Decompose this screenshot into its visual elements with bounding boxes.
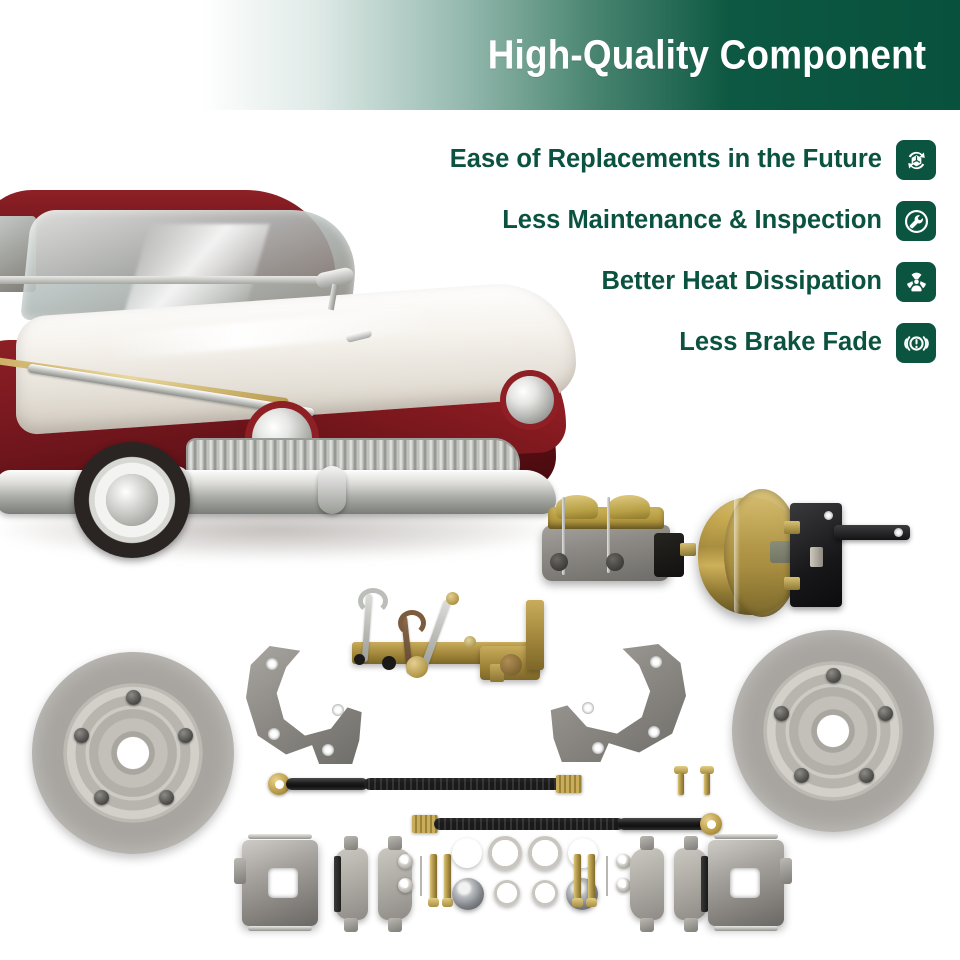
bracket-hole <box>592 742 604 754</box>
caliper-bleeder-bar-top <box>248 834 312 839</box>
feature-item-ease-of-replacements: Ease of Replacements in the Future <box>316 136 936 184</box>
hardware-left-group <box>398 850 460 916</box>
hardware-right-group <box>572 850 634 916</box>
brake-hose-upper <box>268 770 588 794</box>
brake-line-center-loop <box>398 610 426 636</box>
bracket-hole <box>650 656 662 668</box>
feature-item-less-brake-fade: Less Brake Fade <box>316 319 936 367</box>
rotor-lug-stud <box>94 790 109 805</box>
caliper-window <box>268 868 298 898</box>
bracket-bolt-bottom <box>784 577 800 590</box>
caliper-mount-bolt <box>444 854 451 900</box>
rotor-lug-stud <box>878 706 893 721</box>
bracket-hole <box>582 702 594 714</box>
caliper-body <box>708 840 784 926</box>
feature-label: Better Heat Dissipation <box>601 269 882 295</box>
car-headlight-right <box>506 376 554 424</box>
hose-sleeve-left <box>286 778 368 790</box>
mc-outlet-port-front <box>550 553 568 571</box>
bracket-stud <box>810 547 823 567</box>
feature-label: Less Brake Fade <box>679 330 882 356</box>
caliper-mount-bolt <box>430 854 437 900</box>
cotter-pin <box>420 856 422 896</box>
caliper-mount-ear <box>780 858 792 884</box>
caliper-mount-bolt <box>588 854 595 900</box>
pad-tab-bottom <box>388 918 402 932</box>
brake-pad-outer <box>630 848 664 920</box>
bolt-head <box>572 898 583 907</box>
product-infographic: High-Quality Component <box>0 0 960 960</box>
valve-side-port <box>500 654 522 676</box>
pad-tab-bottom <box>684 918 698 932</box>
bracket-plate <box>548 644 686 762</box>
bracket-plate <box>246 646 364 764</box>
rotor-lug-stud <box>774 706 789 721</box>
feature-label: Ease of Replacements in the Future <box>450 147 882 173</box>
caliper-bleeder-bar-bottom <box>714 926 778 931</box>
brake-line-left-loop <box>358 588 388 614</box>
bolt-head <box>586 898 597 907</box>
pad-backing-plate <box>334 856 341 912</box>
bracket-hole <box>648 726 660 738</box>
nut-hole <box>621 859 626 864</box>
hose-braided-section <box>364 778 564 790</box>
banjo-bolt-shaft <box>678 773 684 795</box>
pad-tab-bottom <box>344 918 358 932</box>
bracket-hole <box>322 744 334 756</box>
brake-line-right-end <box>446 592 459 605</box>
brake-rotor-left <box>32 652 234 854</box>
brake-warning-icon <box>896 323 936 363</box>
rotor-lug-stud <box>826 668 841 683</box>
bearing-race-outer <box>452 838 482 868</box>
caliper-bracket-right <box>542 638 692 768</box>
nut-hole <box>621 883 626 888</box>
dust-cap-left <box>452 878 484 910</box>
feature-label: Less Maintenance & Inspection <box>502 208 882 234</box>
wrench-circle-icon <box>896 201 936 241</box>
hose-end-fitting <box>556 775 582 793</box>
pad-tab-top <box>388 836 402 850</box>
brake-caliper-right <box>700 830 792 936</box>
rotor-lug-stud <box>794 768 809 783</box>
brake-hose-lower <box>412 810 732 834</box>
caliper-mount-bolt <box>574 854 581 900</box>
rotor-lug-stud <box>126 690 141 705</box>
page-title: High-Quality Component <box>487 32 926 79</box>
brake-caliper-left <box>234 830 326 936</box>
bracket-hole <box>332 704 344 716</box>
castle-nut <box>398 854 413 869</box>
brake-rotor-right <box>732 630 934 832</box>
bracket-bolt-top <box>784 521 800 534</box>
pad-tab-top <box>640 836 654 850</box>
outer-bearing <box>488 836 522 870</box>
rotor-lug-stud <box>178 728 193 743</box>
bracket-arm-hole <box>894 528 903 537</box>
bracket-arm <box>834 525 910 540</box>
valve-brass-knob <box>406 656 428 678</box>
wheel-bearings-seals <box>452 838 580 928</box>
nut-hole <box>403 883 408 888</box>
bracket-hole <box>268 728 280 740</box>
feature-item-heat-dissipation: Better Heat Dissipation <box>316 258 936 306</box>
bolt-head <box>428 898 439 907</box>
bracket-hole-top <box>824 511 833 520</box>
grease-seal-right <box>532 880 558 906</box>
nut-hole <box>403 859 408 864</box>
feature-item-less-maintenance: Less Maintenance & Inspection <box>316 197 936 245</box>
pad-tab-top <box>344 836 358 850</box>
hose-eye-hole <box>707 820 716 829</box>
banjo-bolt-pair <box>672 766 722 800</box>
bracket-hole <box>266 658 278 670</box>
valve-switch-nut <box>464 636 476 648</box>
roof-chrome-trim <box>0 276 348 284</box>
rotor-lug-stud <box>74 728 89 743</box>
caliper-mount-ear <box>234 858 246 884</box>
caliper-bleeder-bar-bottom <box>248 926 312 931</box>
caliper-bleeder-bar-top <box>714 834 778 839</box>
grease-seal-left <box>494 880 520 906</box>
pad-tab-bottom <box>640 918 654 932</box>
hose-eye-hole <box>275 780 284 789</box>
booster-highlight <box>734 493 740 613</box>
pad-tab-top <box>684 836 698 850</box>
parts-layout <box>0 440 960 960</box>
header-banner: High-Quality Component <box>0 0 960 110</box>
valve-rubber-grommet <box>382 656 396 670</box>
master-cylinder-booster-assembly <box>538 485 868 620</box>
inner-bearing <box>528 836 562 870</box>
caliper-bracket-left <box>240 640 370 770</box>
replacement-cycle-icon <box>896 140 936 180</box>
hose-braided-section <box>434 818 624 830</box>
reservoir-cap-rear <box>608 495 650 519</box>
caliper-window <box>730 868 760 898</box>
proportioning-valve <box>340 580 570 700</box>
castle-nut <box>398 878 413 893</box>
banjo-bolt-shaft <box>704 773 710 795</box>
heat-dissipation-icon <box>896 262 936 302</box>
cotter-pin <box>606 856 608 896</box>
feature-list: Ease of Replacements in the Future Less … <box>316 136 936 380</box>
hose-sleeve-right <box>618 818 706 830</box>
mc-outlet-port-rear <box>606 553 624 571</box>
pushrod-fitting <box>680 543 696 556</box>
caliper-body <box>242 840 318 926</box>
rotor-lug-stud <box>159 790 174 805</box>
rotor-lug-stud <box>859 768 874 783</box>
